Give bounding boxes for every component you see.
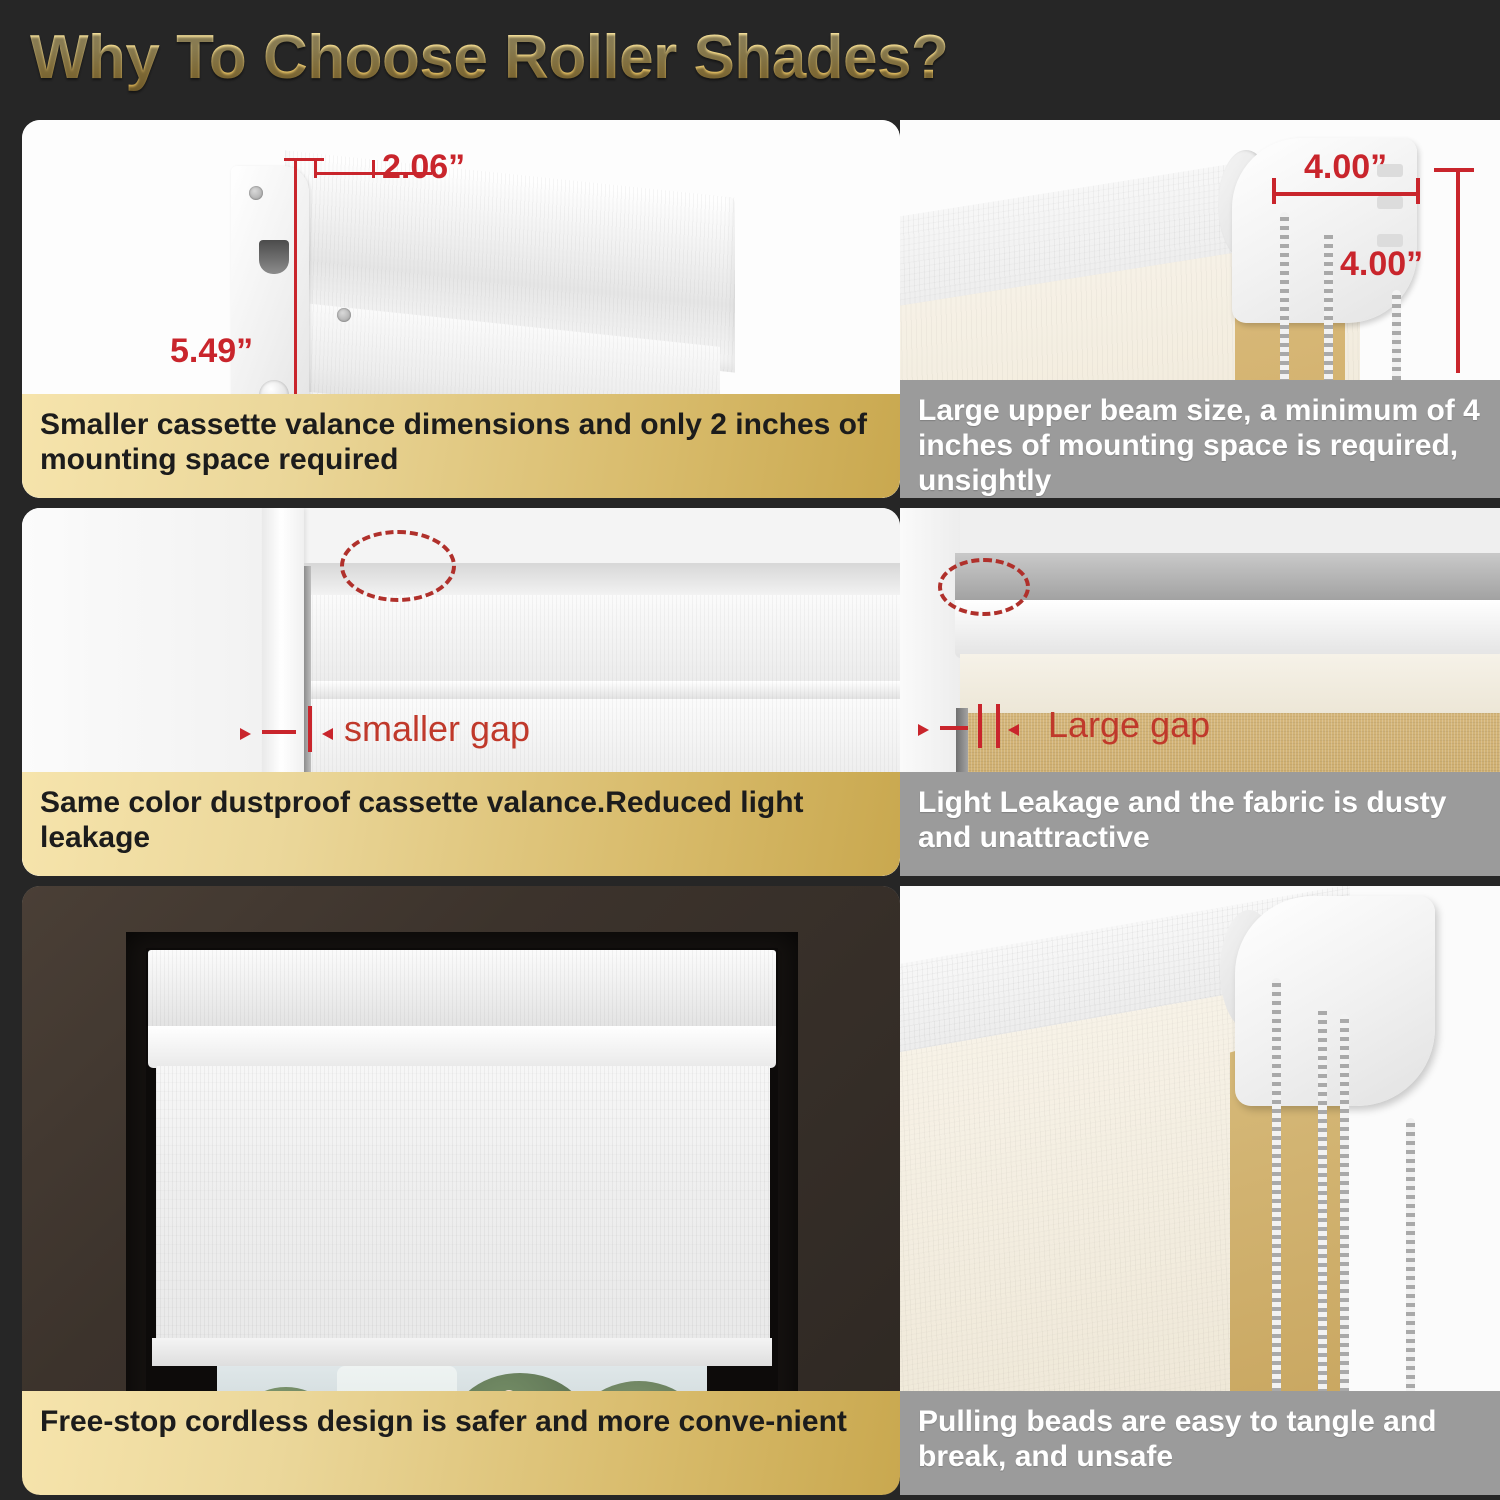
gap-arrow-left — [240, 728, 251, 740]
annotation-large-gap: Large gap — [1048, 704, 1210, 746]
gap-arrow-right — [1008, 724, 1019, 736]
panel-con-large-beam: 4.00” 4.00” Large upper beam size, a min… — [900, 120, 1500, 498]
panel-pro-cordless: Free-stop cordless design is safer and m… — [22, 886, 900, 1495]
panel-con-pulling-beads: Pulling beads are easy to tangle and bre… — [900, 886, 1500, 1495]
dimension-label-549: 5.49” — [170, 332, 253, 371]
cassette-headrail — [148, 950, 776, 1032]
comparison-grid: 2.06” 5.49” Smaller cassette valance dim… — [0, 110, 1500, 1495]
bead-chain — [1406, 1118, 1415, 1398]
dimension-label-400-horizontal: 4.00” — [1304, 148, 1387, 187]
page-title: Why To Choose Roller Shades? — [30, 18, 1130, 96]
highlight-ellipse-gap — [938, 558, 1030, 616]
panel-pro-cassette-dimensions: 2.06” 5.49” Smaller cassette valance dim… — [22, 120, 900, 498]
caption-con-pulling-beads: Pulling beads are easy to tangle and bre… — [900, 1391, 1500, 1495]
dimension-label-400-vertical: 4.00” — [1340, 245, 1423, 284]
gap-arrow-left — [918, 724, 929, 736]
gap-arrow-right — [322, 728, 333, 740]
caption-con-large-gap: Light Leakage and the fabric is dusty an… — [900, 772, 1500, 876]
highlight-ellipse-gap — [340, 530, 456, 602]
caption-con-large-beam: Large upper beam size, a minimum of 4 in… — [900, 380, 1500, 498]
bead-chain — [1318, 1006, 1327, 1398]
roller-bracket — [1235, 896, 1435, 1106]
bottom-rail — [152, 1338, 772, 1366]
dimension-label-206: 2.06” — [382, 148, 465, 187]
panel-con-large-gap: Large gap Light Leakage and the fabric i… — [900, 508, 1500, 876]
caption-pro-cassette-dimensions: Smaller cassette valance dimensions and … — [22, 394, 900, 498]
bead-chain — [1340, 1014, 1349, 1398]
caption-pro-cordless: Free-stop cordless design is safer and m… — [22, 1391, 900, 1495]
annotation-smaller-gap: smaller gap — [344, 708, 530, 750]
page-title-text: Why To Choose Roller Shades? — [30, 22, 948, 93]
panel-pro-smaller-gap: smaller gap Same color dustproof cassett… — [22, 508, 900, 876]
caption-pro-smaller-gap: Same color dustproof cassette valance.Re… — [22, 772, 900, 876]
bead-chain — [1272, 978, 1281, 1398]
shade-fabric — [156, 1066, 770, 1344]
